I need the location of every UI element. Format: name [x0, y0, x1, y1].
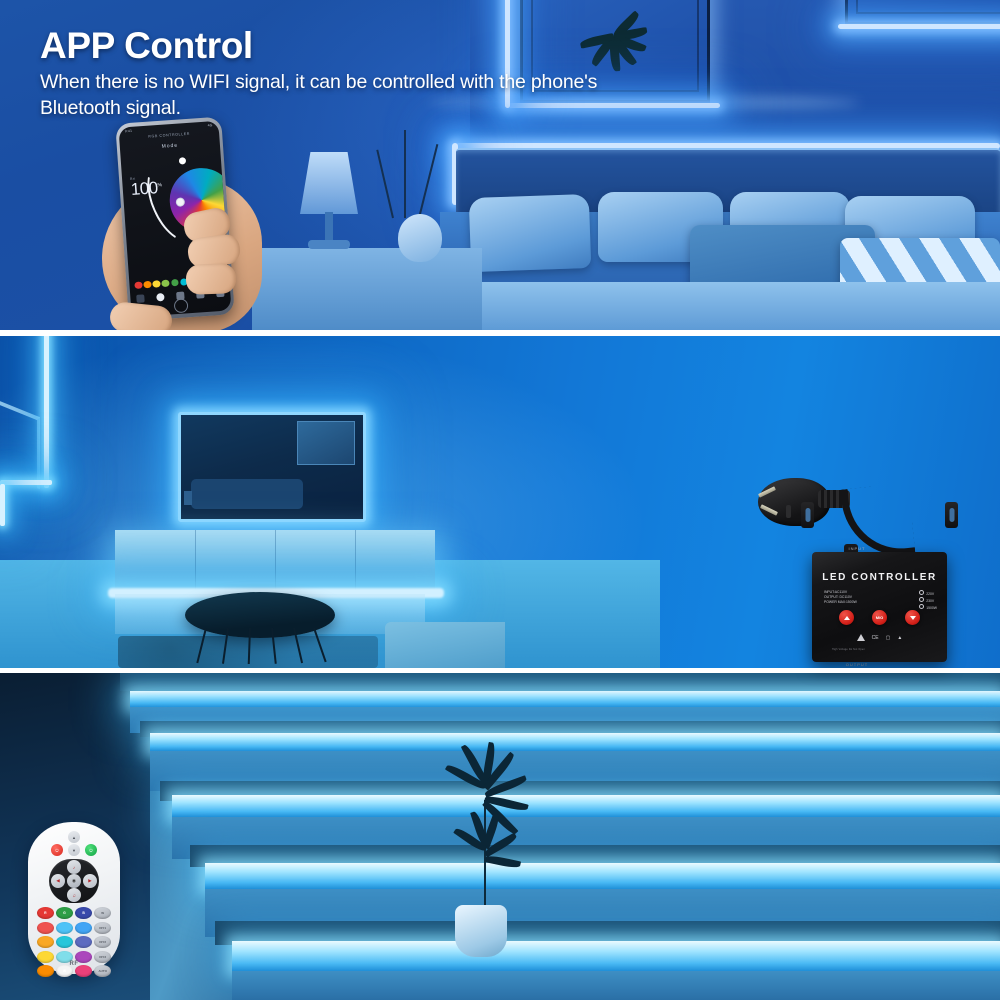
remote-row-power[interactable]: ⏻ ▼ ⏻ [28, 844, 120, 856]
color-swatch [153, 280, 161, 288]
wall-frame-coconut: COCONUT LEAVES [845, 0, 1000, 25]
step-edge [120, 673, 1000, 691]
spec-option-230v: 230V [919, 597, 937, 604]
remote-color-button-3[interactable]: W [94, 907, 111, 919]
finger [185, 263, 236, 295]
color-swatch [143, 281, 151, 289]
coffee-table-legs [205, 628, 315, 664]
warning-triangle-icon [857, 634, 865, 641]
spec-option-220v: 220V [919, 590, 937, 597]
remote-color-button-7[interactable]: DIY1 [94, 922, 111, 934]
arrow-up-icon [844, 616, 850, 620]
controller-body: LED CONTROLLER INPUT:AC110V OUTPUT: DC11… [812, 552, 947, 662]
remote-color-button-10[interactable] [75, 936, 92, 948]
neon-strip-step [130, 691, 1000, 707]
neon-strip-step [172, 795, 1000, 817]
decor-branch [404, 130, 406, 218]
remote-button-brightness-down[interactable]: ▼ [68, 844, 80, 856]
controller-button-row[interactable]: M/O [812, 610, 947, 625]
status-network: 4G [207, 123, 212, 127]
controller-button-mode[interactable]: M/O [872, 610, 887, 625]
mounting-bracket-left [801, 502, 814, 528]
remote-dpad-left[interactable]: ◀ [51, 874, 65, 888]
app-control-title: APP Control [40, 26, 600, 66]
plug-pin [758, 486, 776, 497]
tv-scene-badge [184, 491, 192, 505]
remote-button-power-off[interactable]: ⏻ [51, 844, 63, 856]
color-swatch [134, 281, 142, 289]
remote-dpad[interactable]: ♪ ◀ ◉ ▶ ♫ [49, 859, 99, 903]
remote-dpad-right[interactable]: ▶ [83, 874, 97, 888]
tv-screen-content [181, 415, 363, 519]
led-controller-device: INPUT OUTPUT LED CONTROLLER INPUT:AC110V… [752, 476, 962, 671]
remote-row-brightness-up[interactable]: ▲ [28, 831, 120, 843]
panel-app-control: COCONUT LEAVES 9:41 [0, 0, 1000, 330]
tv-scene-sofa [191, 479, 303, 509]
remote-color-button-0[interactable]: R [37, 907, 54, 919]
neon-strip-wall-vertical [44, 336, 49, 488]
remote-color-button-2[interactable]: B [75, 907, 92, 919]
spec-column-left: INPUT:AC110V OUTPUT: DC110V POWER MAX:15… [824, 590, 857, 611]
status-time: 9:41 [125, 129, 133, 134]
remote-dpad-center[interactable]: ◉ [67, 874, 81, 888]
frame-mat [856, 0, 1000, 14]
product-feature-collage: COCONUT LEAVES 9:41 [0, 0, 1000, 1000]
remote-dpad-music-down[interactable]: ♫ [67, 888, 81, 902]
warning-caption: High Voltage Do Not Open [832, 648, 865, 651]
ce-mark-icon: CE [872, 635, 879, 641]
tv-stand [115, 530, 435, 592]
weee-mark-icon: ▲ [897, 635, 902, 641]
app-mode-label: Mode [120, 140, 220, 153]
nightstand [252, 248, 482, 330]
remote-color-button-8[interactable] [37, 936, 54, 948]
remote-color-button-11[interactable]: DIY2 [94, 936, 111, 948]
mounting-hole [949, 508, 954, 522]
app-control-description: When there is no WIFI signal, it can be … [40, 70, 600, 121]
panel-divider [0, 668, 1000, 673]
step-tread [232, 971, 1000, 1000]
controller-button-up[interactable] [839, 610, 854, 625]
potted-plant [440, 735, 530, 910]
controller-button-down[interactable] [905, 610, 920, 625]
color-swatch [171, 279, 179, 287]
plant-pot [455, 905, 507, 957]
remote-dpad-music-up[interactable]: ♪ [67, 860, 81, 874]
remote-color-button-9[interactable] [56, 936, 73, 948]
television [178, 412, 366, 522]
neon-strip-wall-horizontal [0, 480, 52, 485]
home-button-icon[interactable] [174, 298, 189, 313]
certification-marks: CE ▢ ▲ [812, 634, 947, 641]
pillow [469, 194, 592, 272]
spec-power: POWER MAX:1500W [824, 600, 857, 605]
remote-color-button-6[interactable] [75, 922, 92, 934]
hand-holding-phone: 9:41 4G RGB CONTROLLER Mode Bri 100% [98, 118, 273, 330]
neon-strip-step [205, 863, 1000, 889]
color-swatch [162, 280, 170, 288]
rohs-mark-icon: ▢ [886, 635, 891, 641]
decor-vase [398, 214, 442, 262]
neon-strip-wall-lower [0, 484, 5, 526]
mounting-hole [805, 508, 810, 522]
panel-divider [0, 330, 1000, 336]
controller-output-label: OUTPUT [752, 662, 962, 667]
table-lamp-base [308, 240, 350, 249]
remote-brand-logo: RF [28, 961, 120, 967]
neon-strip-step [232, 941, 1000, 971]
neon-strip-step [150, 733, 1000, 751]
spec-column-right: 220V 230V 1500W [919, 590, 937, 611]
controller-input-label: INPUT [752, 546, 962, 551]
remote-color-button-1[interactable]: G [56, 907, 73, 919]
arrow-down-icon [910, 616, 916, 620]
app-control-text-block: APP Control When there is no WIFI signal… [40, 26, 600, 121]
neon-strip-frame-right-bottom [838, 24, 1000, 29]
toolbar-icon-panel[interactable] [136, 294, 145, 303]
arc-slider-handle[interactable] [179, 157, 186, 164]
table-lamp-neck [325, 212, 333, 242]
sofa [385, 622, 505, 668]
rf-remote-control[interactable]: ▲ ⏻ ▼ ⏻ ♪ ◀ ◉ ▶ ♫ RGBWDIY1DIY2DIY3WAUTO … [28, 822, 120, 974]
remote-color-button-5[interactable] [56, 922, 73, 934]
controller-spec-table: INPUT:AC110V OUTPUT: DC110V POWER MAX:15… [824, 590, 937, 611]
plug-pin [760, 504, 778, 515]
toolbar-icon-color[interactable] [156, 293, 165, 302]
mounting-bracket-right [945, 502, 958, 528]
tv-scene-artwork [297, 421, 355, 465]
remote-button-brightness-up[interactable]: ▲ [68, 831, 80, 843]
duvet [440, 282, 1000, 330]
remote-color-button-4[interactable] [37, 922, 54, 934]
plug-earth-pin [786, 505, 791, 518]
controller-brand-label: LED CONTROLLER [812, 572, 947, 583]
remote-button-power-on[interactable]: ⏻ [85, 844, 97, 856]
